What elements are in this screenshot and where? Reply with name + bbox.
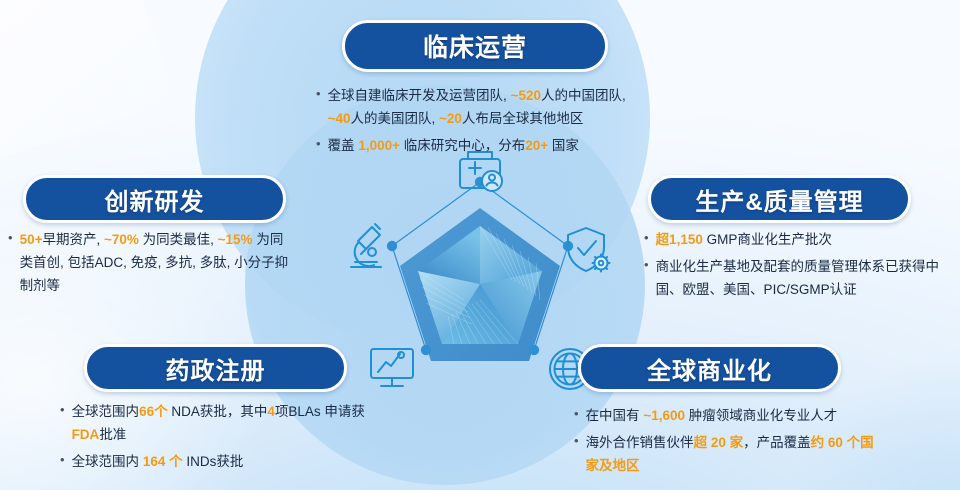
bullet-item: • 50+早期资产, ~70% 为同类最佳, ~15% 为同类首创, 包括ADC… <box>8 228 290 298</box>
plain-text: 全球自建临床开发及运营团队, <box>328 88 511 103</box>
highlight-value: 164 个 <box>143 454 183 469</box>
plain-text: 全球范围内 <box>72 454 143 469</box>
pill-global-commercialization-label: 全球商业化 <box>647 351 772 386</box>
bullet-marker-icon: • <box>8 228 13 248</box>
bullet-marker-icon: • <box>316 84 321 104</box>
bullet-item: •在中国有 ~1,600 肿瘤领域商业化专业人才 <box>574 404 884 427</box>
pill-regulatory-affairs[interactable]: 药政注册 <box>84 344 347 392</box>
pill-regulatory-affairs-label: 药政注册 <box>166 351 266 386</box>
bullet-item: •商业化生产基地及配套的质量管理体系已获得中国、欧盟、美国、PIC/SGMP认证 <box>644 255 944 301</box>
bullet-item: •覆盖 1,000+ 临床研究中心，分布20+ 国家 <box>316 134 646 157</box>
highlight-value: 20+ <box>525 138 548 153</box>
highlight-value: ~40 <box>328 111 351 126</box>
bullet-text: 在中国有 ~1,600 肿瘤领域商业化专业人才 <box>586 404 884 427</box>
pill-innovative-rnd-label: 创新研发 <box>105 182 205 217</box>
bullet-text: 覆盖 1,000+ 临床研究中心，分布20+ 国家 <box>328 134 646 157</box>
highlight-value: ~520 <box>511 88 541 103</box>
bullet-item: • 全球范围内66个 NDA获批，其中4项BLAs 申请获FDA批准 <box>60 400 370 446</box>
highlight-value: 超 20 家 <box>694 435 744 450</box>
plain-text: 在中国有 <box>586 408 644 423</box>
plain-text: 项BLAs 申请获 <box>275 404 365 419</box>
highlight-value: 超1,150 <box>656 232 703 247</box>
pentagon-node-dot-left[interactable] <box>387 241 397 251</box>
plain-text: 人的中国团队, <box>541 88 626 103</box>
bullet-item: •海外合作销售伙伴超 20 家，产品覆盖约 60 个国家及地区 <box>574 431 884 477</box>
bullet-text: 50+早期资产, ~70% 为同类最佳, ~15% 为同类首创, 包括ADC, … <box>20 228 290 298</box>
highlight-value: ~1,600 <box>643 408 685 423</box>
shield-check-gear-icon <box>568 228 610 272</box>
pill-global-commercialization[interactable]: 全球商业化 <box>578 344 841 392</box>
pentagon-node-dot-bottom-left[interactable] <box>421 345 431 355</box>
highlight-value: 1,000+ <box>358 138 400 153</box>
bullets-global-commercialization: •在中国有 ~1,600 肿瘤领域商业化专业人才•海外合作销售伙伴超 20 家，… <box>574 404 884 482</box>
bullet-text: 海外合作销售伙伴超 20 家，产品覆盖约 60 个国家及地区 <box>586 431 884 477</box>
decor-corner-wedge-top-left <box>0 0 175 166</box>
plain-text: 为同类最佳, <box>139 232 218 247</box>
monitor-chart-icon <box>371 349 413 386</box>
highlight-value: FDA <box>72 427 100 442</box>
microscope-icon <box>351 224 381 267</box>
bullet-marker-icon: • <box>60 450 65 470</box>
highlight-value: ~20 <box>439 111 462 126</box>
plain-text: 批准 <box>99 427 126 442</box>
plain-text: 人的美国团队, <box>350 111 439 126</box>
plain-text: 全球范围内 <box>72 404 140 419</box>
highlight-value: ~70% <box>104 232 139 247</box>
bullet-item: • 全球范围内 164 个 INDs获批 <box>60 450 370 473</box>
bullets-manufacturing-quality: •超1,150 GMP商业化生产批次•商业化生产基地及配套的质量管理体系已获得中… <box>644 228 944 306</box>
bullet-marker-icon: • <box>574 404 579 424</box>
pill-manufacturing-quality-label: 生产&质量管理 <box>695 182 863 217</box>
plain-text: 商业化生产基地及配套的质量管理体系已获得中国、欧盟、美国、PIC/SGMP认证 <box>656 259 940 297</box>
highlight-value: 66个 <box>139 404 168 419</box>
bullet-item: •全球自建临床开发及运营团队, ~520人的中国团队, ~40人的美国团队, ~… <box>316 84 646 130</box>
plain-text: 人布局全球其他地区 <box>462 111 584 126</box>
bullet-item: •超1,150 GMP商业化生产批次 <box>644 228 944 251</box>
bullet-marker-icon: • <box>644 255 649 275</box>
pill-manufacturing-quality[interactable]: 生产&质量管理 <box>648 175 911 223</box>
bullets-innovative-rnd: • 50+早期资产, ~70% 为同类最佳, ~15% 为同类首创, 包括ADC… <box>8 228 290 302</box>
bullet-marker-icon: • <box>60 400 65 420</box>
bullet-marker-icon: • <box>574 431 579 451</box>
plain-text: INDs获批 <box>183 454 244 469</box>
highlight-value: 50+ <box>20 232 43 247</box>
plain-text: NDA获批，其中 <box>168 404 268 419</box>
plain-text: ，产品覆盖 <box>743 435 811 450</box>
highlight-value: 4 <box>267 404 275 419</box>
bullet-marker-icon: • <box>644 228 649 248</box>
plain-text: 覆盖 <box>328 138 359 153</box>
bullet-text: 全球范围内66个 NDA获批，其中4项BLAs 申请获FDA批准 <box>72 400 370 446</box>
bullet-text: 全球范围内 164 个 INDs获批 <box>72 450 370 473</box>
pill-innovative-rnd[interactable]: 创新研发 <box>23 175 286 223</box>
bullets-regulatory-affairs: • 全球范围内66个 NDA获批，其中4项BLAs 申请获FDA批准• 全球范围… <box>60 400 370 478</box>
plain-text: 国家 <box>548 138 579 153</box>
infographic-canvas: 临床运营 创新研发 生产&质量管理 药政注册 全球商业化 •全球自建临床开发及运… <box>0 0 960 490</box>
pentagon-node-dot-bottom-right[interactable] <box>529 345 539 355</box>
pill-clinical-operations[interactable]: 临床运营 <box>342 20 608 72</box>
plain-text: 肿瘤领域商业化专业人才 <box>685 408 837 423</box>
highlight-value: ~15% <box>218 232 253 247</box>
plain-text: GMP商业化生产批次 <box>703 232 832 247</box>
plain-text: 海外合作销售伙伴 <box>586 435 694 450</box>
plain-text: 临床研究中心，分布 <box>400 138 525 153</box>
pentagon-core <box>400 208 560 361</box>
bullet-text: 全球自建临床开发及运营团队, ~520人的中国团队, ~40人的美国团队, ~2… <box>328 84 646 130</box>
bullets-clinical-operations: •全球自建临床开发及运营团队, ~520人的中国团队, ~40人的美国团队, ~… <box>316 84 646 162</box>
plain-text: 早期资产, <box>42 232 104 247</box>
bullet-marker-icon: • <box>316 134 321 154</box>
bullet-text: 商业化生产基地及配套的质量管理体系已获得中国、欧盟、美国、PIC/SGMP认证 <box>656 255 944 301</box>
pill-clinical-operations-label: 临床运营 <box>423 28 527 64</box>
bullet-text: 超1,150 GMP商业化生产批次 <box>656 228 944 251</box>
